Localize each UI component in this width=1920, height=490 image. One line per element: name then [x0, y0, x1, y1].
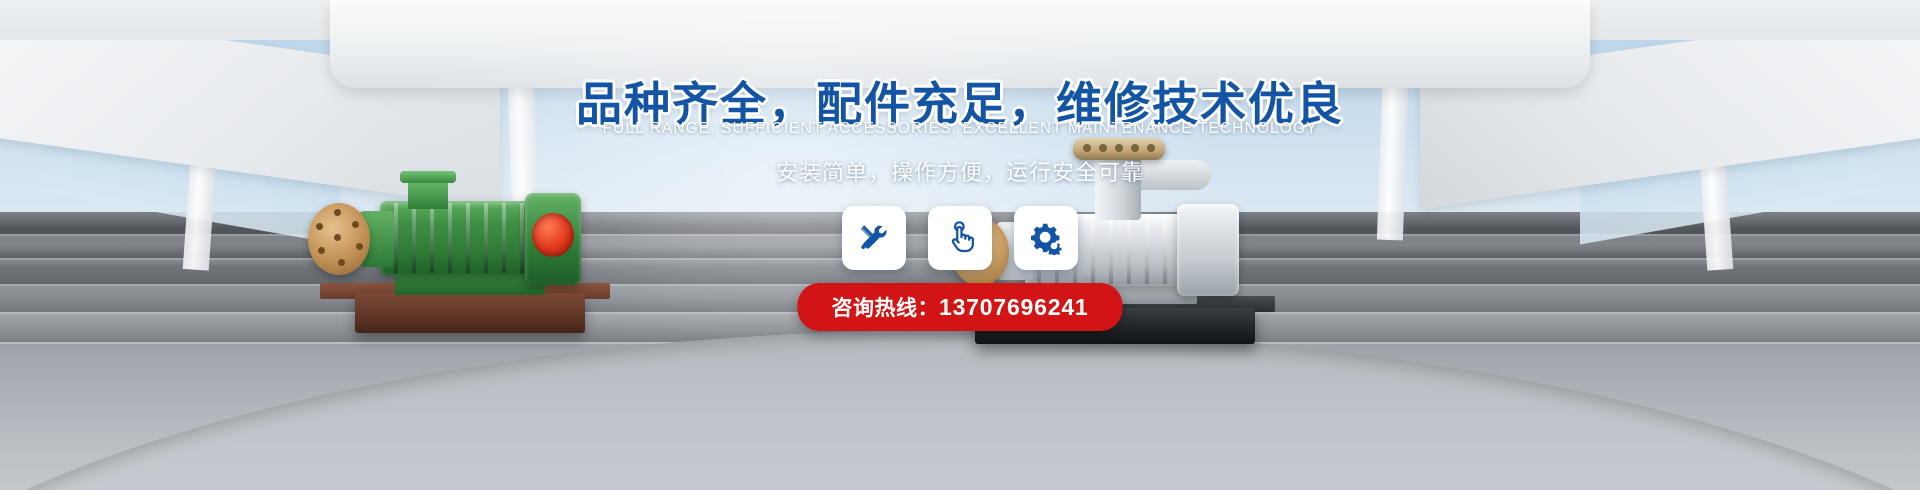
tools-icon: [857, 221, 891, 255]
hotline-badge[interactable]: 咨询热线：13707696241: [797, 283, 1122, 331]
feature-icon-row: [0, 206, 1920, 270]
feature-card-machinery[interactable]: [1014, 206, 1078, 270]
hotline-label: 咨询热线：: [831, 297, 939, 320]
banner-content: 品种齐全，配件充足，维修技术优良 FULL RANGE, SUFFICIENT …: [0, 0, 1920, 490]
feature-card-easy-operation[interactable]: [928, 206, 992, 270]
gears-icon: [1029, 221, 1063, 255]
feature-card-tools[interactable]: [842, 206, 906, 270]
hotline-number: 13707696241: [939, 294, 1089, 320]
banner-subtitle-english: FULL RANGE, SUFFICIENT ACCESSORIES, EXCE…: [0, 120, 1920, 138]
promo-banner: 品种齐全，配件充足，维修技术优良 FULL RANGE, SUFFICIENT …: [0, 0, 1920, 490]
banner-subtitle-chinese: 安装简单，操作方便，运行安全可靠: [0, 155, 1920, 187]
hand-click-icon: [943, 221, 977, 255]
